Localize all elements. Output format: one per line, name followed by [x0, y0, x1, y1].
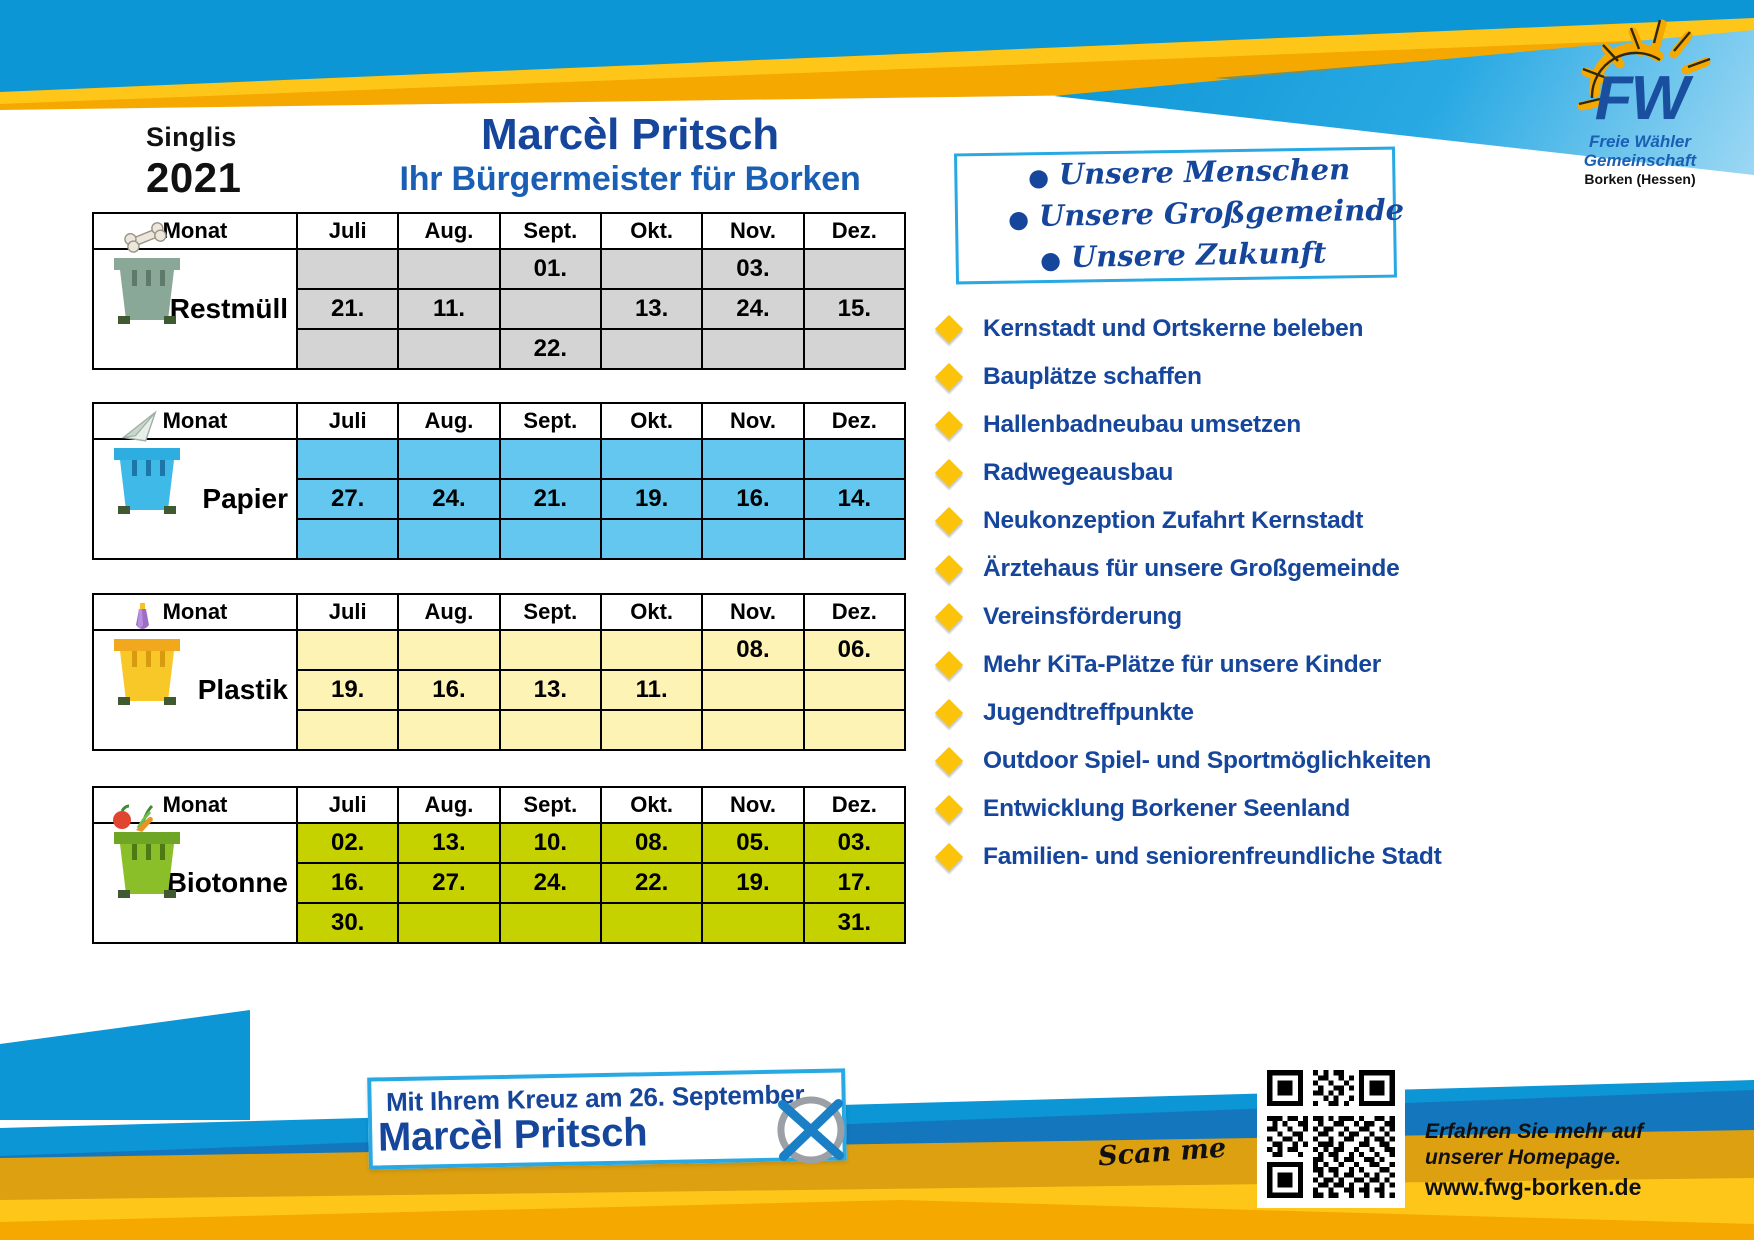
- table-row: Restmüll 01. 03.: [93, 249, 905, 289]
- date-cell: 05.: [702, 823, 803, 863]
- date-cell: [500, 630, 601, 670]
- calendar-biotonne: Monat Juli Aug. Sept. Okt. Nov. Dez.: [92, 786, 906, 944]
- date-cell: [398, 249, 499, 289]
- category-label: Papier: [202, 483, 288, 514]
- website-url[interactable]: www.fwg-borken.de: [1425, 1174, 1641, 1201]
- date-cell: 01.: [500, 249, 601, 289]
- fw-logo: FW Freie Wähler Gemeinschaft Borken (Hes…: [1540, 10, 1740, 190]
- date-cell: 16.: [297, 863, 398, 903]
- date-cell: [601, 439, 702, 479]
- bullet-dot-icon: ●: [1040, 245, 1061, 274]
- top-blue-banner: [0, 0, 1754, 120]
- program-bullet-list: Kernstadt und Ortskerne beleben Bauplätz…: [935, 305, 1595, 881]
- date-cell: [297, 519, 398, 559]
- bullet-label: Outdoor Spiel- und Sportmöglichkeiten: [983, 747, 1431, 775]
- diamond-bullet-icon: [935, 507, 963, 535]
- date-cell: [601, 903, 702, 943]
- table-header-row: Monat Juli Aug. Sept. Okt. Nov. Dez.: [93, 403, 905, 439]
- diamond-bullet-icon: [935, 699, 963, 727]
- list-item: Ärztehaus für unsere Großgemeinde: [935, 545, 1595, 593]
- table-header-row: Monat Juli Aug. Sept. Okt. Nov. Dez.: [93, 213, 905, 249]
- bullet-dot-icon: ●: [1028, 162, 1049, 191]
- diamond-bullet-icon: [935, 411, 963, 439]
- date-cell: [398, 439, 499, 479]
- category-cell: Restmüll: [93, 249, 297, 369]
- candidate-name: Marcèl Pritsch: [345, 110, 915, 160]
- header-month: Okt.: [601, 787, 702, 823]
- list-item: Hallenbadneubau umsetzen: [935, 401, 1595, 449]
- list-item: Familien- und seniorenfreundliche Stadt: [935, 833, 1595, 881]
- header-month: Nov.: [702, 594, 803, 630]
- table-row: Plastik 08. 06.: [93, 630, 905, 670]
- date-cell: [297, 249, 398, 289]
- date-cell: [500, 903, 601, 943]
- year-label: 2021: [146, 154, 241, 202]
- vote-callout-line-2: Marcèl Pritsch: [378, 1110, 648, 1160]
- category-cell: Biotonne: [93, 823, 297, 943]
- date-cell: 24.: [398, 479, 499, 519]
- papier-bin-icon: [102, 410, 198, 514]
- list-item: Kernstadt und Ortskerne beleben: [935, 305, 1595, 353]
- date-cell: [601, 329, 702, 369]
- candidate-subtitle: Ihr Bürgermeister für Borken: [325, 160, 935, 199]
- homepage-line-1: Erfahren Sie mehr auf: [1425, 1120, 1643, 1144]
- header-month: Dez.: [804, 594, 905, 630]
- date-cell: 13.: [398, 823, 499, 863]
- date-cell: [398, 903, 499, 943]
- date-cell: 17.: [804, 863, 905, 903]
- header-month: Juli: [297, 594, 398, 630]
- date-cell: [297, 329, 398, 369]
- date-cell: [702, 439, 803, 479]
- date-cell: 21.: [500, 479, 601, 519]
- date-cell: [601, 630, 702, 670]
- bullet-label: Jugendtreffpunkte: [983, 699, 1194, 727]
- date-cell: 02.: [297, 823, 398, 863]
- date-cell: 21.: [297, 289, 398, 329]
- header-month: Aug.: [398, 787, 499, 823]
- bullet-label: Bauplätze schaffen: [983, 363, 1202, 391]
- date-cell: 27.: [297, 479, 398, 519]
- header-month: Sept.: [500, 787, 601, 823]
- list-item: Bauplätze schaffen: [935, 353, 1595, 401]
- date-cell: 24.: [500, 863, 601, 903]
- bullet-dot-icon: ●: [1008, 204, 1029, 233]
- list-item: Vereinsförderung: [935, 593, 1595, 641]
- date-cell: [702, 710, 803, 750]
- date-cell: 11.: [601, 670, 702, 710]
- date-cell: [297, 630, 398, 670]
- date-cell: 27.: [398, 863, 499, 903]
- header-month: Nov.: [702, 787, 803, 823]
- date-cell: [398, 329, 499, 369]
- slogan-item-1: ●Unsere Menschen: [1028, 152, 1351, 192]
- date-cell: [500, 439, 601, 479]
- header-month: Juli: [297, 213, 398, 249]
- date-cell: [500, 519, 601, 559]
- date-cell: [804, 670, 905, 710]
- date-cell: 10.: [500, 823, 601, 863]
- diamond-bullet-icon: [935, 603, 963, 631]
- date-cell: [500, 289, 601, 329]
- bottom-left-blue-wedge: [0, 1010, 250, 1120]
- header-month: Nov.: [702, 403, 803, 439]
- date-cell: 22.: [500, 329, 601, 369]
- list-item: Radwegeausbau: [935, 449, 1595, 497]
- slogan-item-3: ●Unsere Zukunft: [1040, 236, 1327, 275]
- date-cell: [702, 670, 803, 710]
- header-month: Aug.: [398, 594, 499, 630]
- header-month: Aug.: [398, 213, 499, 249]
- date-cell: 13.: [601, 289, 702, 329]
- bullet-label: Mehr KiTa-Plätze für unsere Kinder: [983, 651, 1381, 679]
- date-cell: 03.: [804, 823, 905, 863]
- date-cell: [804, 519, 905, 559]
- date-cell: [804, 329, 905, 369]
- date-cell: 15.: [804, 289, 905, 329]
- bullet-label: Familien- und seniorenfreundliche Stadt: [983, 843, 1442, 871]
- table-header-row: Monat Juli Aug. Sept. Okt. Nov. Dez.: [93, 594, 905, 630]
- biotonne-bin-icon: [102, 794, 198, 898]
- date-cell: 30.: [297, 903, 398, 943]
- bullet-label: Kernstadt und Ortskerne beleben: [983, 315, 1363, 343]
- date-cell: 14.: [804, 479, 905, 519]
- bullet-label: Neukonzeption Zufahrt Kernstadt: [983, 507, 1363, 535]
- date-cell: [297, 710, 398, 750]
- slogan-text: Unsere Zukunft: [1071, 236, 1327, 274]
- bullet-label: Vereinsförderung: [983, 603, 1182, 631]
- bullet-label: Radwegeausbau: [983, 459, 1173, 487]
- date-cell: [804, 249, 905, 289]
- diamond-bullet-icon: [935, 747, 963, 775]
- diamond-bullet-icon: [935, 651, 963, 679]
- date-cell: [702, 329, 803, 369]
- bullet-label: Hallenbadneubau umsetzen: [983, 411, 1301, 439]
- slogan-text: Unsere Menschen: [1059, 152, 1351, 191]
- date-cell: 08.: [601, 823, 702, 863]
- date-cell: [702, 903, 803, 943]
- date-cell: [601, 249, 702, 289]
- header-month: Okt.: [601, 594, 702, 630]
- logo-line-1: Freie Wähler: [1540, 132, 1740, 152]
- header-month: Nov.: [702, 213, 803, 249]
- diamond-bullet-icon: [935, 795, 963, 823]
- header-month: Juli: [297, 787, 398, 823]
- date-cell: 13.: [500, 670, 601, 710]
- date-cell: 19.: [297, 670, 398, 710]
- poster-canvas: Singlis 2021 Marcèl Pritsch Ihr Bürgerme…: [0, 0, 1754, 1240]
- date-cell: [601, 710, 702, 750]
- header-month: Dez.: [804, 213, 905, 249]
- list-item: Entwicklung Borkener Seenland: [935, 785, 1595, 833]
- date-cell: 03.: [702, 249, 803, 289]
- header-month: Dez.: [804, 403, 905, 439]
- list-item: Neukonzeption Zufahrt Kernstadt: [935, 497, 1595, 545]
- slogan-text: Unsere Großgemeinde: [1039, 193, 1405, 233]
- date-cell: 06.: [804, 630, 905, 670]
- date-cell: 16.: [702, 479, 803, 519]
- date-cell: [601, 519, 702, 559]
- homepage-line-2: unserer Homepage.: [1425, 1146, 1621, 1170]
- category-cell: Plastik: [93, 630, 297, 750]
- logo-initials: FW: [1566, 68, 1716, 130]
- scan-me-label: Scan me: [1097, 1133, 1227, 1173]
- date-cell: 08.: [702, 630, 803, 670]
- date-cell: [398, 519, 499, 559]
- date-cell: 24.: [702, 289, 803, 329]
- table-row: Papier: [93, 439, 905, 479]
- list-item: Jugendtreffpunkte: [935, 689, 1595, 737]
- date-cell: 19.: [601, 479, 702, 519]
- diamond-bullet-icon: [935, 459, 963, 487]
- plastik-bin-icon: [102, 601, 198, 705]
- diamond-bullet-icon: [935, 843, 963, 871]
- date-cell: 16.: [398, 670, 499, 710]
- list-item: Outdoor Spiel- und Sportmöglichkeiten: [935, 737, 1595, 785]
- calendar-papier: Monat Juli Aug. Sept. Okt. Nov. Dez.: [92, 402, 906, 560]
- x-mark-icon: [774, 1093, 847, 1171]
- date-cell: [398, 710, 499, 750]
- header-month: Sept.: [500, 213, 601, 249]
- logo-line-2: Gemeinschaft: [1540, 151, 1740, 171]
- date-cell: 11.: [398, 289, 499, 329]
- header-month: Okt.: [601, 403, 702, 439]
- bullet-label: Entwicklung Borkener Seenland: [983, 795, 1350, 823]
- header-month: Juli: [297, 403, 398, 439]
- date-cell: [804, 710, 905, 750]
- diamond-bullet-icon: [935, 555, 963, 583]
- date-cell: [804, 439, 905, 479]
- header-month: Dez.: [804, 787, 905, 823]
- qr-code[interactable]: [1257, 1060, 1405, 1208]
- date-cell: [702, 519, 803, 559]
- table-row: Biotonne 02. 13. 10. 08. 05. 03.: [93, 823, 905, 863]
- slogan-item-2: ●Unsere Großgemeinde: [1008, 193, 1405, 234]
- bullet-label: Ärztehaus für unsere Großgemeinde: [983, 555, 1400, 583]
- place-label: Singlis: [146, 122, 237, 153]
- diamond-bullet-icon: [935, 315, 963, 343]
- category-cell: Papier: [93, 439, 297, 559]
- header-month: Sept.: [500, 403, 601, 439]
- list-item: Mehr KiTa-Plätze für unsere Kinder: [935, 641, 1595, 689]
- table-header-row: Monat Juli Aug. Sept. Okt. Nov. Dez.: [93, 787, 905, 823]
- date-cell: 19.: [702, 863, 803, 903]
- date-cell: [297, 439, 398, 479]
- date-cell: 22.: [601, 863, 702, 903]
- logo-line-3: Borken (Hessen): [1540, 171, 1740, 187]
- date-cell: [500, 710, 601, 750]
- diamond-bullet-icon: [935, 363, 963, 391]
- restmuell-bin-icon: [102, 220, 198, 324]
- category-label: Plastik: [198, 674, 288, 705]
- date-cell: [398, 630, 499, 670]
- header-month: Aug.: [398, 403, 499, 439]
- date-cell: 31.: [804, 903, 905, 943]
- calendar-restmuell: Monat Juli Aug. Sept. Okt. Nov. Dez.: [92, 212, 906, 370]
- header-month: Okt.: [601, 213, 702, 249]
- header-month: Sept.: [500, 594, 601, 630]
- calendar-plastik: Monat Juli Aug. Sept. Okt. Nov. Dez.: [92, 593, 906, 751]
